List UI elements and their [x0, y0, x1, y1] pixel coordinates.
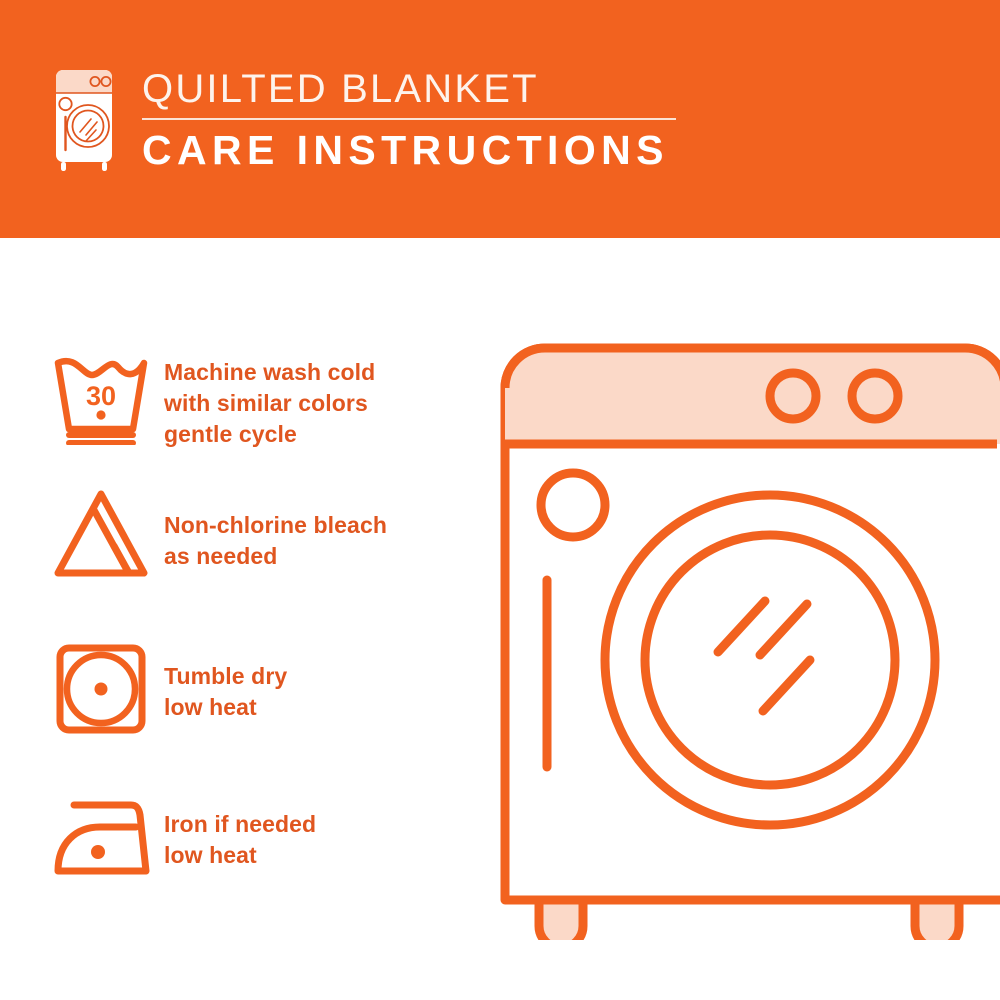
non-chlorine-bleach-triangle-icon	[52, 488, 150, 580]
wash-tub-30-gentle-icon: 30	[52, 353, 150, 445]
care-text-line: Machine wash cold	[164, 357, 375, 388]
care-instruction-item-tumble-dry: Tumble dry low heat	[52, 643, 482, 735]
care-text-line: Tumble dry	[164, 661, 287, 692]
page-title: QUILTED BLANKET	[142, 66, 676, 112]
care-text-line: Iron if needed	[164, 809, 316, 840]
header-content: QUILTED BLANKET CARE INSTRUCTIONS	[48, 62, 676, 173]
care-text-line: gentle cycle	[164, 419, 375, 450]
care-instruction-list: 30 Machine wash cold with similar colors…	[0, 238, 500, 1000]
care-text-line: as needed	[164, 541, 387, 572]
care-instructions-page: QUILTED BLANKET CARE INSTRUCTIONS 30 Mac…	[0, 0, 1000, 1000]
care-instruction-item-iron: Iron if needed low heat	[52, 795, 482, 887]
front-load-washing-machine-illustration	[497, 330, 1000, 940]
tumble-dry-low-heat-icon	[52, 643, 150, 735]
iron-low-heat-icon	[52, 795, 150, 887]
care-instruction-text-bleach: Non-chlorine bleach as needed	[164, 488, 387, 572]
care-symbol-wrapper	[52, 795, 164, 887]
title-divider	[142, 118, 676, 120]
care-instruction-item-bleach: Non-chlorine bleach as needed	[52, 488, 482, 580]
care-text-line: low heat	[164, 840, 316, 871]
page-subtitle: CARE INSTRUCTIONS	[142, 127, 676, 173]
care-instruction-item-wash: 30 Machine wash cold with similar colors…	[52, 353, 482, 450]
care-instruction-text-wash: Machine wash cold with similar colors ge…	[164, 353, 375, 450]
care-text-line: Non-chlorine bleach	[164, 510, 387, 541]
care-text-line: with similar colors	[164, 388, 375, 419]
care-symbol-wrapper: 30	[52, 353, 164, 445]
care-symbol-wrapper	[52, 488, 164, 580]
washer-control-panel	[505, 348, 1000, 444]
care-instruction-text-iron: Iron if needed low heat	[164, 795, 316, 871]
care-text-line: low heat	[164, 692, 287, 723]
care-instruction-text-tumble-dry: Tumble dry low heat	[164, 643, 287, 723]
header-banner: QUILTED BLANKET CARE INSTRUCTIONS	[0, 0, 1000, 238]
title-block: QUILTED BLANKET CARE INSTRUCTIONS	[142, 62, 676, 173]
wash-temperature-label: 30	[86, 381, 116, 411]
washer-leg-right	[915, 900, 959, 940]
care-symbol-wrapper	[52, 643, 164, 735]
washer-leg-left	[539, 900, 583, 940]
washing-machine-icon	[48, 62, 120, 172]
